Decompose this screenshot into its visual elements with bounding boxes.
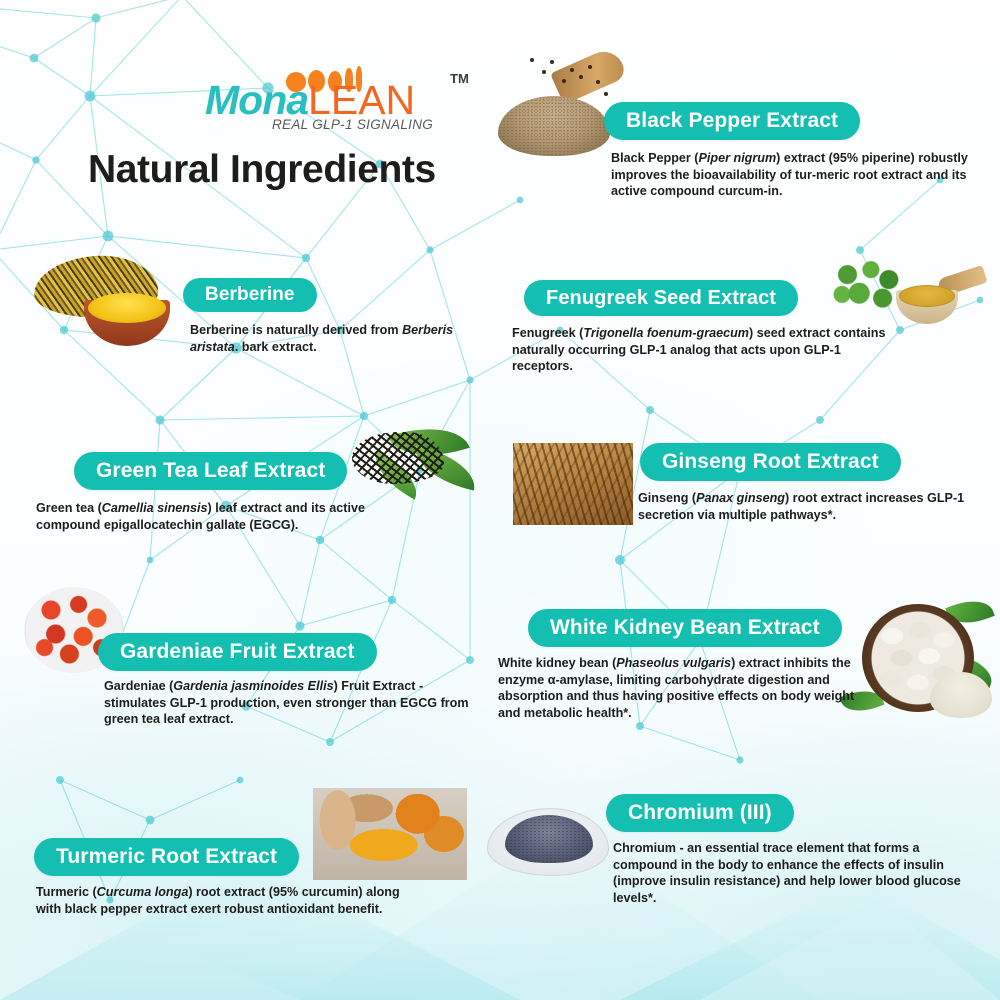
text-chromium: Chromium - an essential trace element th… [613,840,973,907]
pill-label: Chromium (III) [628,801,772,825]
pill-chromium[interactable]: Chromium (III) [606,794,794,832]
infographic-poster: MonaLEAN TM REAL GLP-1 SIGNALING Natural… [0,0,1000,1000]
